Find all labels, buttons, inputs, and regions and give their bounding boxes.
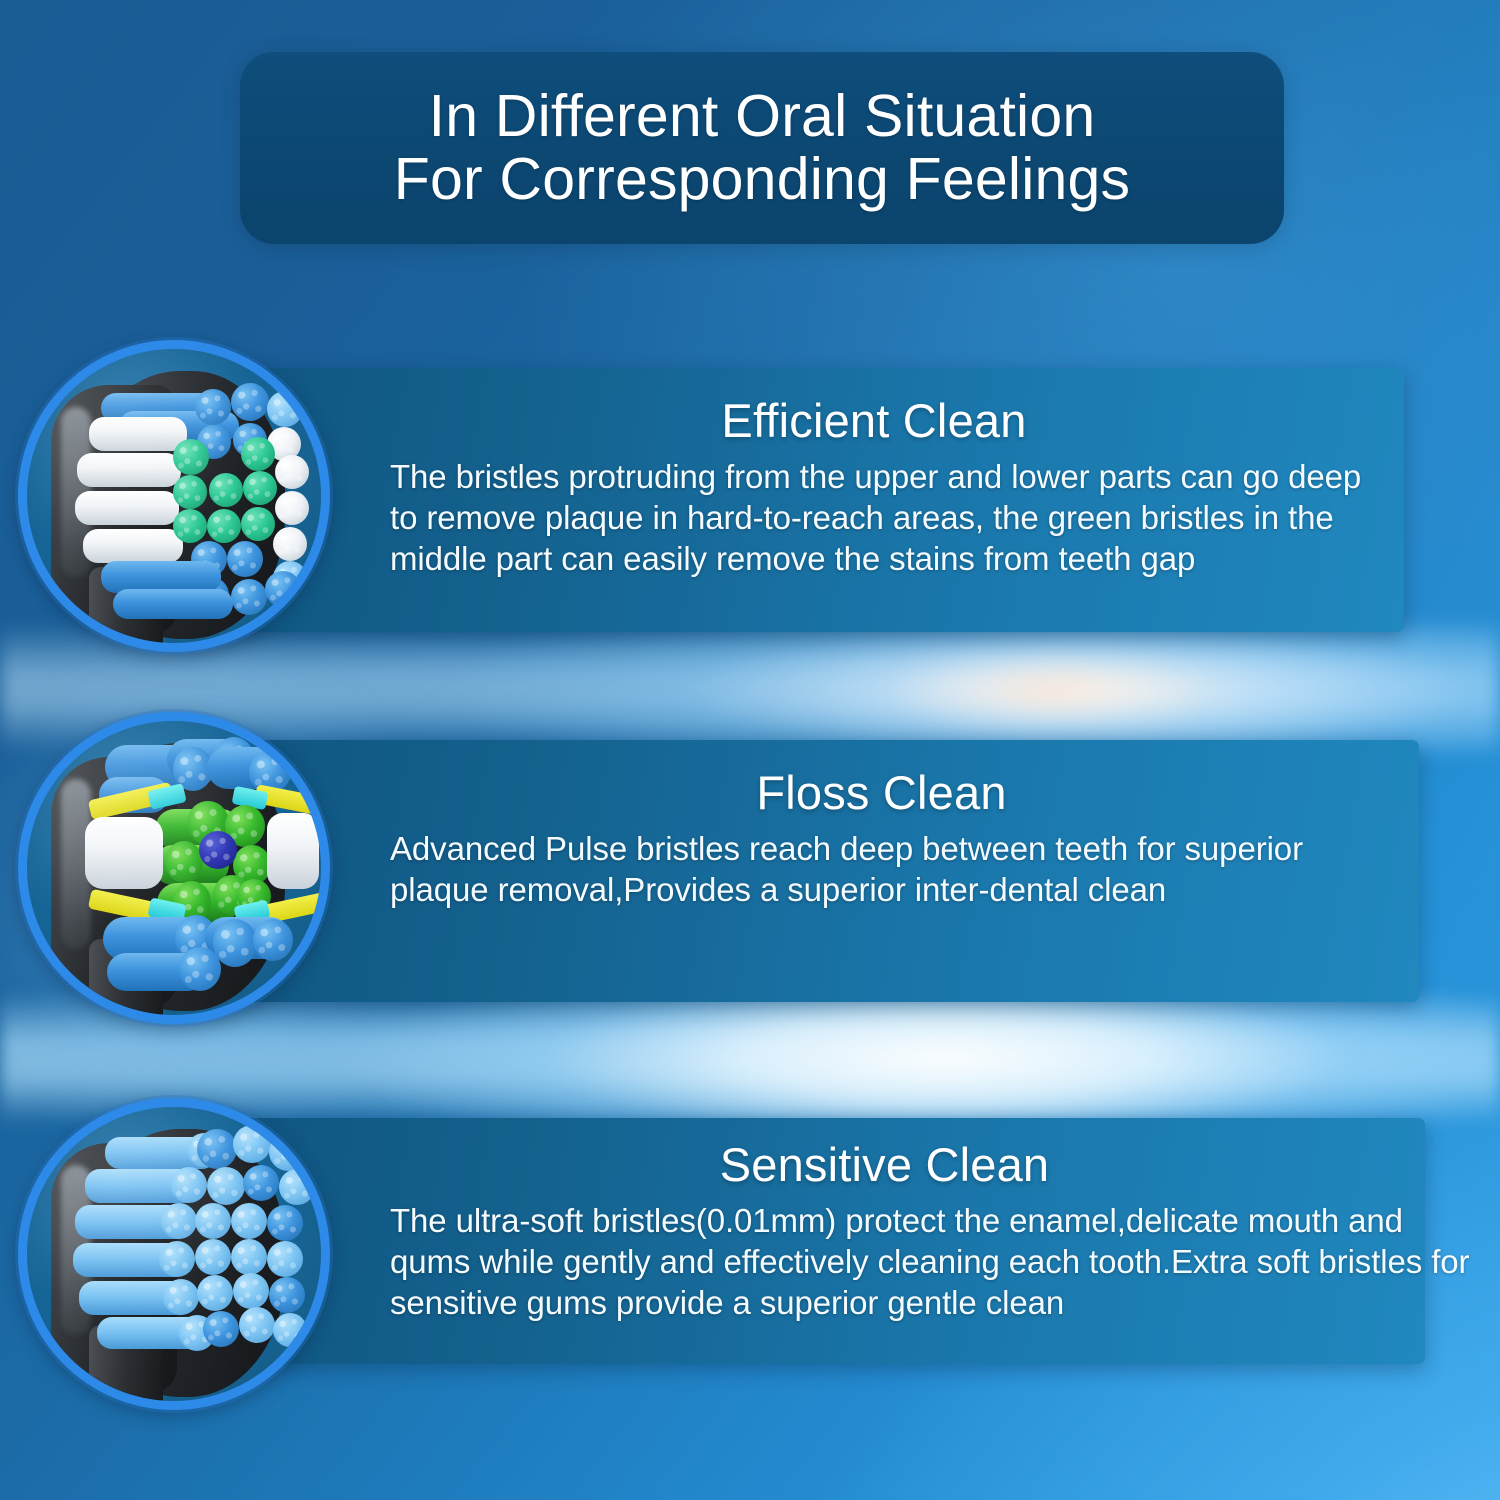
feature-card-efficient-clean: Efficient Clean The bristles protruding … (166, 368, 1404, 632)
title-banner: In Different Oral Situation For Correspo… (240, 52, 1284, 244)
feature-row-sensitive-clean: Sensitive Clean The ultra-soft bristles(… (0, 1090, 1500, 1430)
feature-heading: Floss Clean (376, 768, 1387, 819)
feature-body: The bristles protruding from the upper a… (376, 457, 1372, 580)
brush-head-floss-clean-icon (18, 712, 330, 1024)
feature-heading: Sensitive Clean (376, 1140, 1393, 1191)
feature-body: The ultra-soft bristles(0.01mm) protect … (376, 1201, 1486, 1324)
title-line-2: For Corresponding Feelings (394, 148, 1131, 211)
brush-head-efficient-clean-icon (18, 340, 330, 652)
feature-card-floss-clean: Floss Clean Advanced Pulse bristles reac… (166, 740, 1419, 1002)
feature-row-efficient-clean: Efficient Clean The bristles protruding … (0, 340, 1500, 670)
infographic-poster: In Different Oral Situation For Correspo… (0, 0, 1500, 1500)
feature-body: Advanced Pulse bristles reach deep betwe… (376, 829, 1387, 911)
brush-head-sensitive-clean-icon (18, 1098, 330, 1410)
title-line-1: In Different Oral Situation (429, 85, 1096, 148)
feature-card-sensitive-clean: Sensitive Clean The ultra-soft bristles(… (166, 1118, 1425, 1364)
feature-row-floss-clean: Floss Clean Advanced Pulse bristles reac… (0, 712, 1500, 1042)
feature-heading: Efficient Clean (376, 396, 1372, 447)
